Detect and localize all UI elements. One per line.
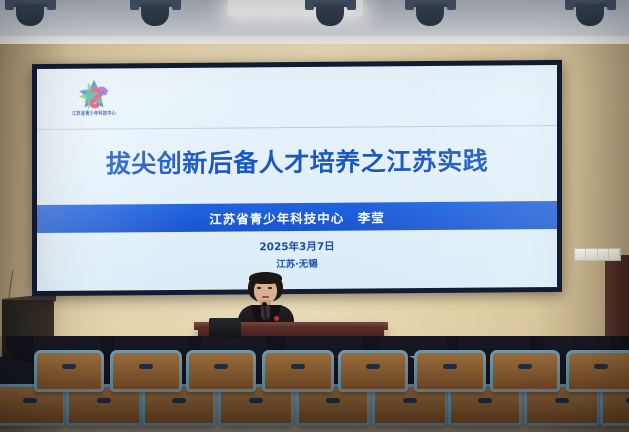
presenter-fringe: [249, 272, 282, 284]
presenter-band-text: 江苏省青少年科技中心 李莹: [209, 207, 385, 227]
presenter-mouth: [262, 296, 269, 298]
projection-screen-frame: 江苏省青少年科技中心 拔尖创新后备人才培养之江苏实践 江苏省青少年科技中心 李莹…: [32, 60, 562, 296]
auditorium-seat: [262, 350, 334, 392]
jiangsu-youth-science-center-logo: 江苏省青少年科技中心: [55, 77, 133, 122]
auditorium-seat: [338, 350, 408, 392]
ceiling-spotlight-4: [407, 0, 453, 26]
auditorium-seat: [490, 350, 560, 392]
presenter-band: 江苏省青少年科技中心 李莹: [37, 201, 557, 233]
seated-audience: [0, 336, 629, 432]
auditorium-seat: [186, 350, 256, 392]
wall-switch-plate[interactable]: [574, 248, 621, 261]
ceiling-spotlight-2: [132, 0, 178, 26]
presenter-eye-left: [257, 287, 261, 289]
auditorium-seat: [414, 350, 486, 392]
ceiling-spotlight-1: [7, 0, 53, 26]
auditorium-seat: [34, 350, 104, 392]
slide-location: 江苏·无锡: [37, 254, 557, 272]
laptop-screen: [209, 318, 241, 337]
ceiling-spotlight-3: [307, 0, 353, 26]
auditorium-seat: [110, 350, 182, 392]
ceiling-spotlight-5: [567, 0, 613, 26]
projection-screen: 江苏省青少年科技中心 拔尖创新后备人才培养之江苏实践 江苏省青少年科技中心 李莹…: [37, 65, 557, 291]
audience-row-2: [0, 350, 629, 390]
slide-date: 2025年3月7日: [37, 237, 557, 256]
presenter-eye-right: [268, 287, 272, 289]
slide-header: 江苏省青少年科技中心: [37, 65, 557, 130]
slide-title: 拔尖创新后备人才培养之江苏实践: [37, 141, 557, 181]
conference-hall-scene: 江苏省青少年科技中心 拔尖创新后备人才培养之江苏实践 江苏省青少年科技中心 李莹…: [0, 0, 629, 432]
auditorium-seat: [566, 350, 629, 392]
presenter-lapel-badge: [274, 316, 279, 321]
logo-caption: 江苏省青少年科技中心: [55, 110, 133, 118]
